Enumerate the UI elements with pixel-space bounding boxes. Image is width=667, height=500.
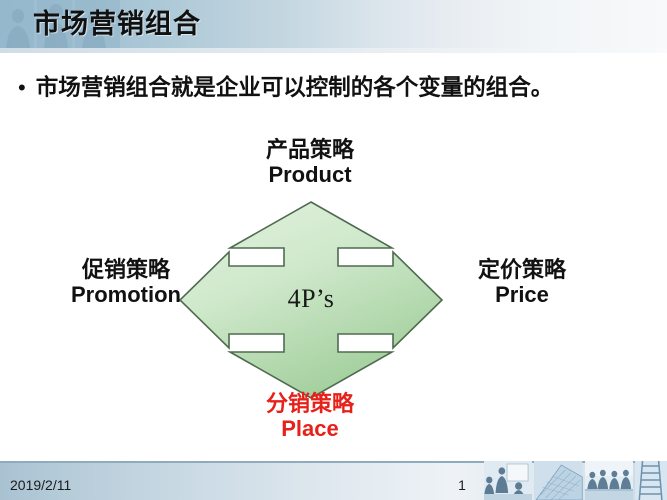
label-place-cn: 分销策略 xyxy=(205,392,415,417)
ladder-photo-icon xyxy=(635,461,667,500)
diagram-center-label: 4P’s xyxy=(178,284,444,314)
label-price: 定价策略 Price xyxy=(432,258,612,307)
bullet-marker-icon: • xyxy=(18,73,26,103)
footer-page-number: 1 xyxy=(452,476,472,494)
label-product: 产品策略 Product xyxy=(200,138,420,187)
footer-photo-collage xyxy=(484,461,667,500)
page-title: 市场营销组合 xyxy=(33,6,201,42)
bullet-row: • 市场营销组合就是企业可以控制的各个变量的组合。 xyxy=(18,72,658,104)
label-place: 分销策略 Place xyxy=(205,392,415,441)
label-price-en: Price xyxy=(432,283,612,308)
four-p-diagram: 4P’s 产品策略 Product 定价策略 Price 促销策略 Promot… xyxy=(0,130,667,460)
footer-date: 2019/2/11 xyxy=(10,476,71,494)
label-price-cn: 定价策略 xyxy=(432,258,612,283)
slide-canvas: 市场营销组合 • 市场营销组合就是企业可以控制的各个变量的组合。 4P’s 产品… xyxy=(0,0,667,500)
header-underline-strip xyxy=(0,48,667,53)
label-product-cn: 产品策略 xyxy=(200,138,420,163)
presentation-photo-icon xyxy=(484,461,532,500)
label-product-en: Product xyxy=(200,163,420,188)
bullet-text: 市场营销组合就是企业可以控制的各个变量的组合。 xyxy=(36,72,554,104)
label-promotion: 促销策略 Promotion xyxy=(36,258,216,307)
label-promotion-cn: 促销策略 xyxy=(36,258,216,283)
label-place-en: Place xyxy=(205,417,415,442)
meeting-room-photo-icon xyxy=(585,461,633,500)
label-promotion-en: Promotion xyxy=(36,283,216,308)
skyscraper-photo-icon xyxy=(534,461,582,500)
slide-header-band: 市场营销组合 xyxy=(0,0,667,48)
